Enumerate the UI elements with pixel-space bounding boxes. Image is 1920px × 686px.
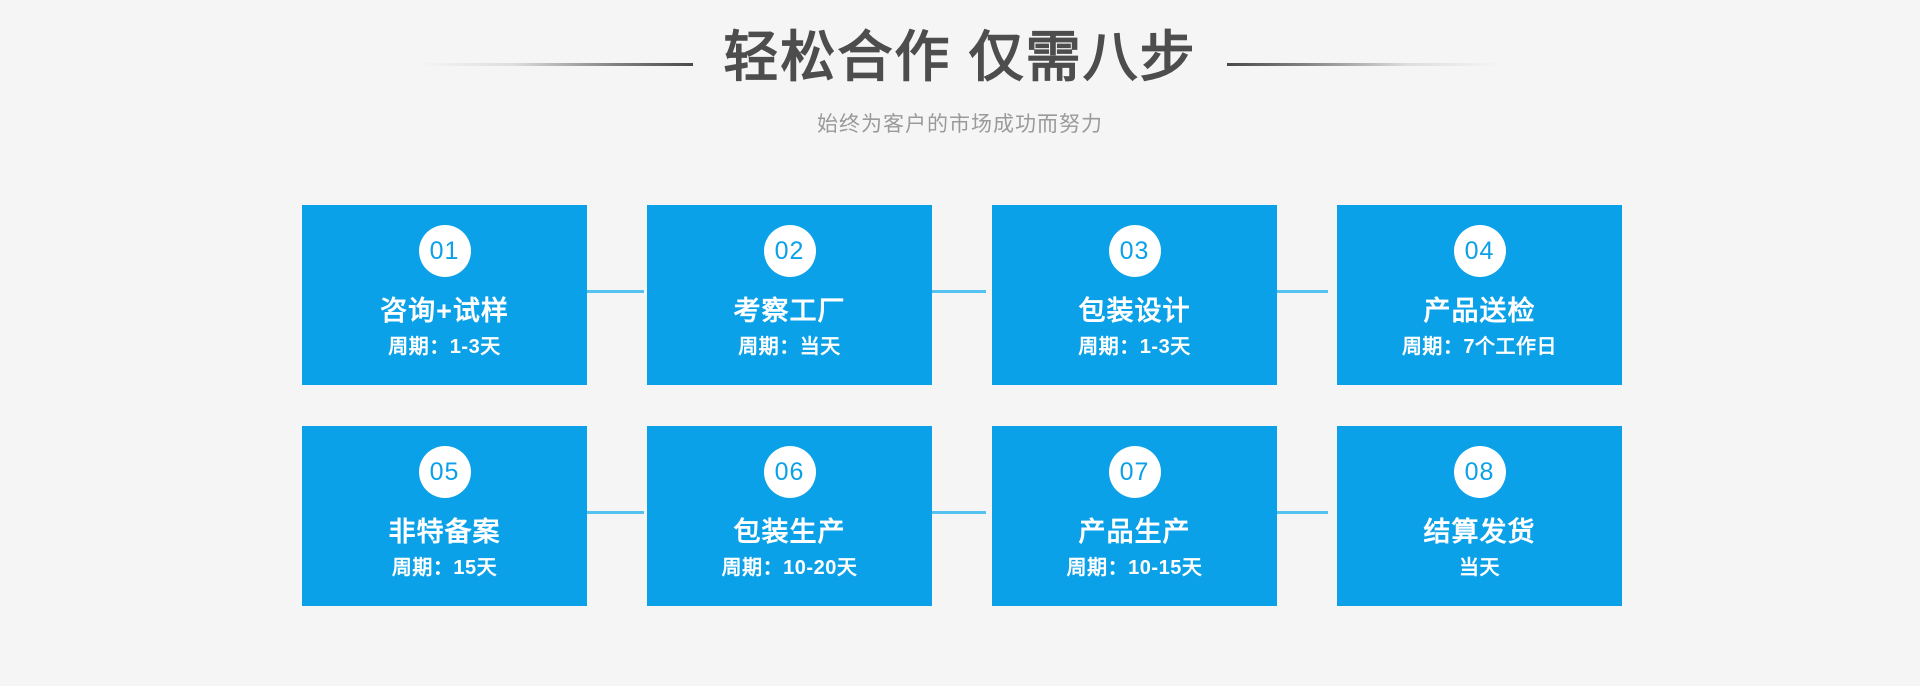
step-card-06[interactable]: 06 包装生产 周期：10-20天 [647,426,932,606]
step-number-badge: 06 [764,446,816,498]
title-row: 轻松合作 仅需八步 [0,0,1920,96]
step-row-top: 01 咨询+试样 周期：1-3天 02 考察工厂 周期：当天 03 包装设计 周… [302,205,1622,385]
step-card-02[interactable]: 02 考察工厂 周期：当天 [647,205,932,385]
step-number-badge: 05 [419,446,471,498]
page-title: 轻松合作 仅需八步 [723,27,1196,87]
step-card-01[interactable]: 01 咨询+试样 周期：1-3天 [302,205,587,385]
step-duration: 周期：15天 [392,556,497,580]
step-card-08[interactable]: 08 结算发货 当天 [1337,426,1622,606]
steps-grid: 01 咨询+试样 周期：1-3天 02 考察工厂 周期：当天 03 包装设计 周… [302,205,1622,606]
step-connector [578,511,644,514]
page-header: 轻松合作 仅需八步 始终为客户的市场成功而努力 [0,0,1920,138]
step-row-bottom: 05 非特备案 周期：15天 06 包装生产 周期：10-20天 07 产品生产… [302,426,1622,606]
step-title: 包装设计 [1079,296,1191,326]
step-duration: 周期：1-3天 [1078,335,1190,359]
step-number-badge: 07 [1109,446,1161,498]
step-duration: 周期：10-20天 [722,556,858,580]
step-title: 产品生产 [1079,517,1191,547]
step-duration: 周期：7个工作日 [1402,335,1557,359]
cooperation-process-page: 轻松合作 仅需八步 始终为客户的市场成功而努力 01 咨询+试样 周期：1-3天… [0,0,1920,686]
decorative-rule-right [1227,63,1502,66]
step-number-badge: 02 [764,225,816,277]
step-number-badge: 03 [1109,225,1161,277]
page-subtitle: 始终为客户的市场成功而努力 [0,112,1920,138]
step-connector [578,290,644,293]
step-duration: 周期：当天 [738,335,841,359]
step-title: 结算发货 [1424,517,1536,547]
step-title: 非特备案 [389,517,501,547]
step-card-04[interactable]: 04 产品送检 周期：7个工作日 [1337,205,1622,385]
step-duration: 周期：1-3天 [388,335,500,359]
step-title: 考察工厂 [734,296,846,326]
step-number-badge: 01 [419,225,471,277]
step-card-07[interactable]: 07 产品生产 周期：10-15天 [992,426,1277,606]
step-title: 产品送检 [1424,296,1536,326]
step-number-badge: 04 [1454,225,1506,277]
step-card-05[interactable]: 05 非特备案 周期：15天 [302,426,587,606]
decorative-rule-left [418,63,693,66]
step-title: 咨询+试样 [380,296,509,326]
step-card-03[interactable]: 03 包装设计 周期：1-3天 [992,205,1277,385]
step-duration: 周期：10-15天 [1067,556,1203,580]
step-duration: 当天 [1459,556,1500,580]
step-number-badge: 08 [1454,446,1506,498]
step-title: 包装生产 [734,517,846,547]
